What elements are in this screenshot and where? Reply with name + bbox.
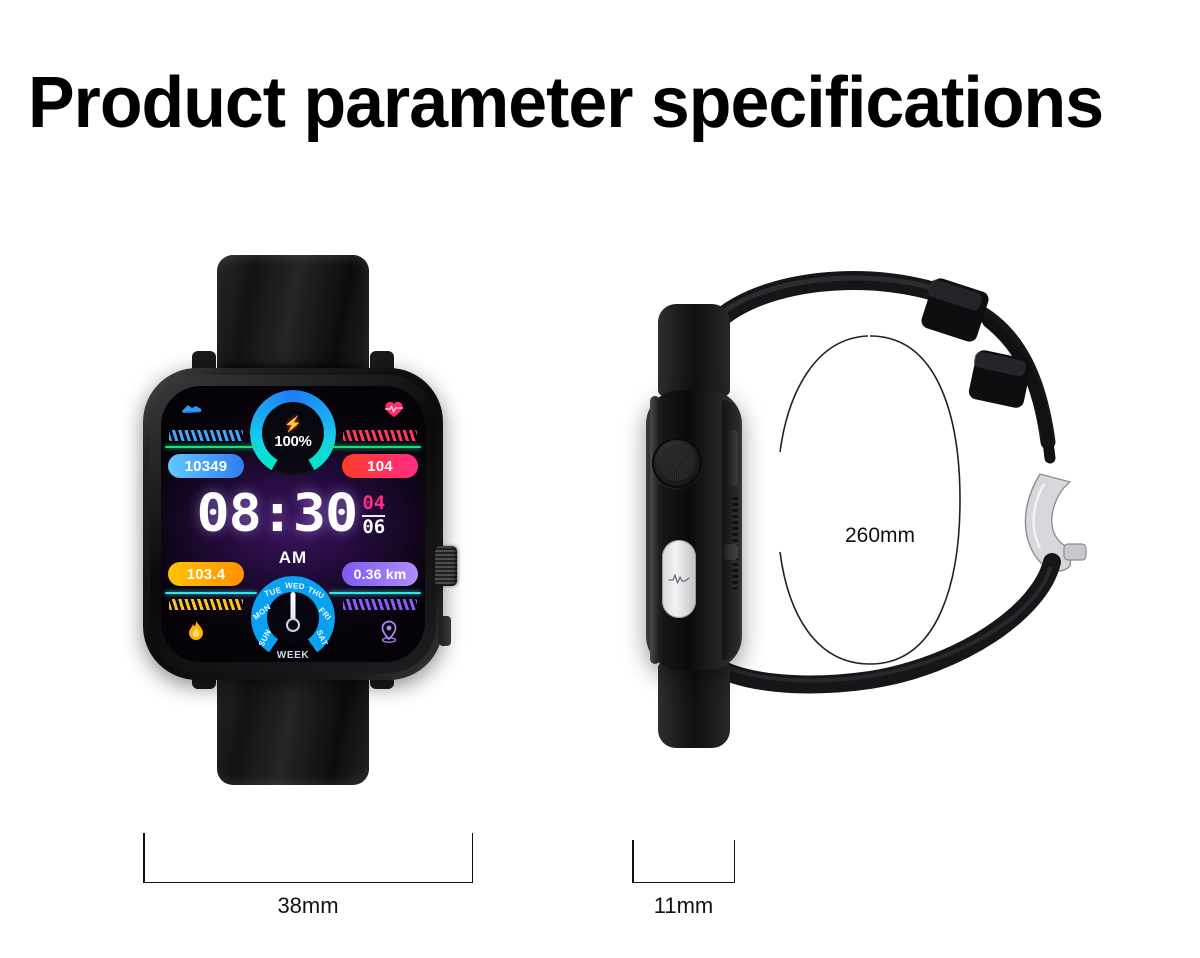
side-watch-figure: 260mm bbox=[620, 262, 1120, 787]
time-display: 08:30 bbox=[196, 490, 357, 539]
width-dimension-bracket bbox=[143, 833, 473, 883]
steps-value: 10349 bbox=[185, 458, 228, 475]
strap-length-label: 260mm bbox=[800, 524, 960, 548]
bracket-tick-right bbox=[472, 833, 474, 883]
watch-screen[interactable]: ⚡ 100% bbox=[161, 386, 425, 662]
product-spec-page: Product parameter specifications ⚡ 100% bbox=[0, 0, 1200, 958]
week-dial-pivot bbox=[288, 620, 298, 630]
front-watch-figure: ⚡ 100% bbox=[128, 255, 458, 785]
decor-hatch-bottom-left bbox=[169, 599, 243, 610]
location-pin-icon bbox=[379, 620, 399, 650]
thickness-dimension-label: 11mm bbox=[582, 893, 785, 919]
week-label: WEEK bbox=[251, 650, 335, 661]
heart-rate-pill: 104 bbox=[342, 454, 418, 478]
decor-line-bottom-left bbox=[165, 592, 257, 594]
speaker-grille-icon bbox=[652, 438, 702, 488]
running-shoe-icon bbox=[181, 400, 203, 420]
side-strap-top bbox=[658, 304, 730, 396]
page-title: Product parameter specifications bbox=[28, 62, 1103, 144]
decor-line-top-right bbox=[329, 446, 421, 448]
calories-value: 103.4 bbox=[187, 566, 226, 583]
decor-line-bottom-right bbox=[329, 592, 421, 594]
side-bottom-button-icon[interactable] bbox=[724, 544, 738, 560]
battery-percent-label: 100% bbox=[274, 433, 311, 450]
width-dimension-label: 38mm bbox=[143, 893, 473, 919]
heart-rate-value: 104 bbox=[367, 458, 393, 475]
side-strap-bottom bbox=[658, 662, 730, 748]
decor-hatch-top-left bbox=[169, 430, 243, 441]
heartbeat-waveform-icon bbox=[668, 572, 690, 586]
calories-pill: 103.4 bbox=[168, 562, 244, 586]
time-row: 08:30 04 06 bbox=[161, 490, 425, 539]
week-dial: SUN MON TUE WED THU FRI SAT WEEK bbox=[251, 576, 335, 660]
distance-value: 0.36 km bbox=[354, 566, 407, 582]
date-month: 06 bbox=[362, 518, 385, 538]
decor-hatch-bottom-right bbox=[343, 599, 417, 610]
flame-icon bbox=[187, 620, 205, 648]
lightning-bolt-icon: ⚡ bbox=[284, 417, 303, 432]
watchface: ⚡ 100% bbox=[161, 386, 425, 662]
thickness-dimension-bracket bbox=[632, 840, 735, 883]
heart-pulse-icon bbox=[383, 400, 405, 423]
date-display: 04 06 bbox=[362, 494, 385, 538]
week-dial-needle bbox=[291, 592, 296, 622]
bracket-bar bbox=[632, 882, 735, 884]
watch-case: ⚡ 100% bbox=[143, 368, 443, 680]
distance-pill: 0.36 km bbox=[342, 562, 418, 586]
steps-pill: 10349 bbox=[168, 454, 244, 478]
date-day: 04 bbox=[362, 494, 385, 514]
side-top-button-icon[interactable] bbox=[728, 430, 738, 486]
weekday-wed: WED bbox=[285, 581, 305, 591]
watch-strap-top bbox=[217, 255, 369, 383]
case-vent-texture bbox=[732, 494, 738, 590]
side-button-icon[interactable] bbox=[439, 616, 451, 646]
ecg-sensor-pad-icon bbox=[662, 540, 696, 618]
rotating-crown-icon[interactable] bbox=[435, 546, 457, 586]
battery-gauge-core: ⚡ 100% bbox=[262, 402, 324, 464]
bracket-bar bbox=[143, 882, 473, 884]
bracket-tick-right bbox=[734, 840, 736, 883]
decor-line-top-left bbox=[165, 446, 257, 448]
bracket-tick-left bbox=[632, 840, 634, 883]
decor-hatch-top-right bbox=[343, 430, 417, 441]
bracket-tick-left bbox=[143, 833, 145, 883]
